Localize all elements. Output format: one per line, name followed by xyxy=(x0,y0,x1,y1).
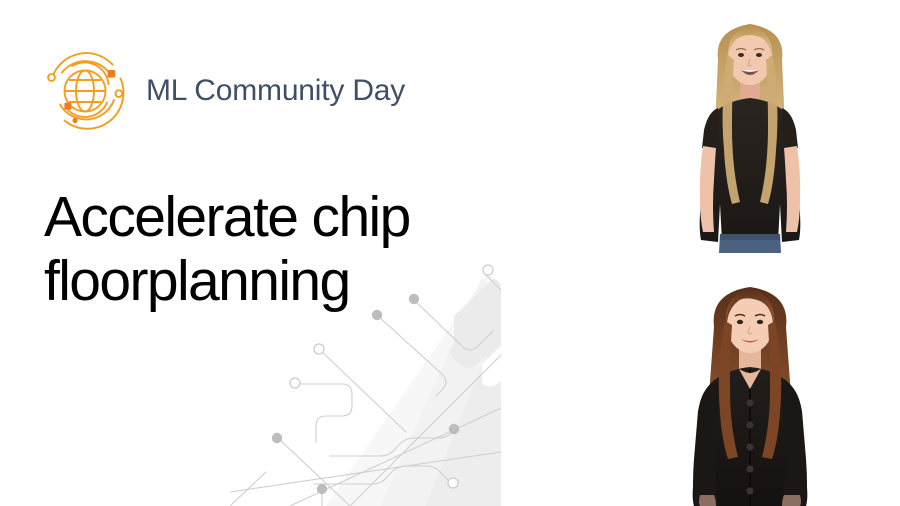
page-title: Accelerate chip floorplanning xyxy=(44,186,474,314)
presenter-video-stage-2 xyxy=(600,253,900,506)
presentation-slide: ML Community Day Accelerate chip floorpl… xyxy=(0,0,900,506)
presenter-avatar-1 xyxy=(670,8,830,253)
presenter-video-panel-2[interactable] xyxy=(600,253,900,506)
page-title-line-2: floorplanning xyxy=(44,250,474,314)
presenter-video-panel-1[interactable] xyxy=(600,0,900,253)
presenter-avatar-2 xyxy=(664,273,836,506)
presenter-video-stage-1 xyxy=(600,0,900,253)
brand-title: ML Community Day xyxy=(146,74,405,108)
circuit-node-filled-group xyxy=(272,294,459,494)
brand-lockup: ML Community Day xyxy=(38,44,405,138)
page-title-line-1: Accelerate chip xyxy=(44,186,474,250)
ml-community-globe-orbit-icon xyxy=(38,44,132,138)
